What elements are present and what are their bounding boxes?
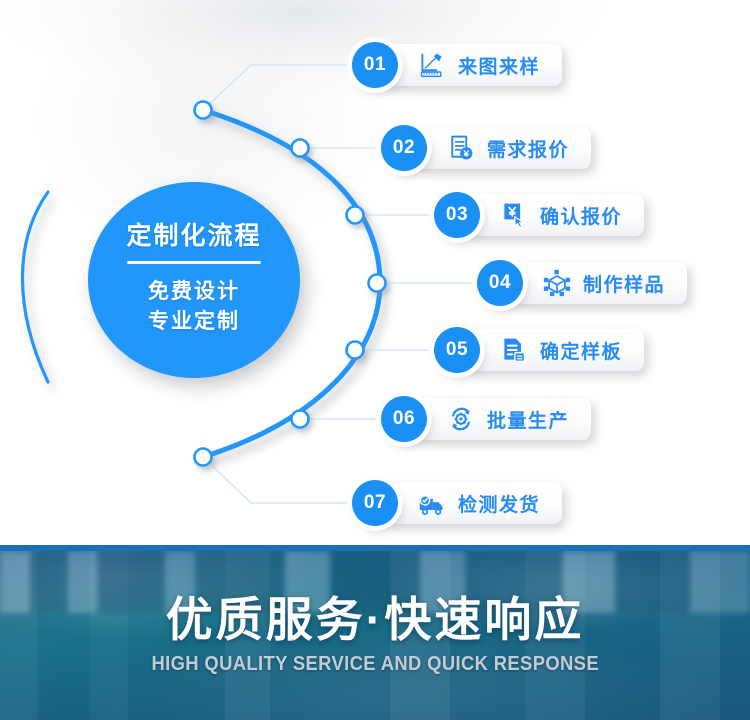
center-subtitle-line-2: 专业定制	[148, 307, 240, 337]
connector-line-07	[203, 457, 374, 503]
center-circle: 定制化流程 免费设计 专业定制	[88, 182, 300, 378]
step-label-05: 确定样板	[540, 337, 622, 364]
center-subtitle-line-1: 免费设计	[148, 277, 240, 307]
arc-node-06	[292, 411, 309, 428]
step-label-02: 需求报价	[487, 135, 569, 162]
yuan-click-confirm-icon	[500, 201, 528, 229]
connector-line-01	[203, 65, 374, 110]
step-badge-05: 05	[434, 327, 480, 373]
arc-node-04	[369, 275, 386, 292]
banner-title: 优质服务·快速响应	[166, 596, 585, 643]
step-badge-02: 02	[381, 125, 427, 171]
center-circle-divider	[127, 261, 261, 264]
drawing-ruler-pencil-icon	[418, 51, 446, 79]
process-step-01[interactable]: 01 来图来样	[352, 42, 562, 88]
step-badge-01: 01	[352, 42, 398, 88]
step-label-07: 检测发货	[458, 490, 540, 517]
center-circle-title: 定制化流程	[126, 224, 261, 249]
outer-decorative-arc	[23, 192, 49, 382]
bottom-banner: 优质服务·快速响应 HIGH QUALITY SERVICE AND QUICK…	[0, 545, 750, 720]
process-step-07[interactable]: 07 检测发货	[352, 480, 562, 526]
document-approve-icon	[500, 336, 528, 364]
banner-content: 优质服务·快速响应 HIGH QUALITY SERVICE AND QUICK…	[0, 551, 750, 720]
step-badge-03: 03	[434, 192, 480, 238]
arc-node-01	[195, 102, 212, 119]
step-label-04: 制作样品	[583, 270, 665, 297]
step-badge-07: 07	[352, 480, 398, 526]
step-badge-06: 06	[381, 396, 427, 442]
truck-check-delivery-icon	[418, 489, 446, 517]
step-label-01: 来图来样	[458, 52, 540, 79]
process-step-02[interactable]: 02 需求报价	[381, 125, 591, 171]
process-step-03[interactable]: 03 确认报价	[434, 192, 644, 238]
step-pill-02[interactable]: 需求报价	[413, 127, 591, 169]
banner-subtitle: HIGH QUALITY SERVICE AND QUICK RESPONSE	[151, 653, 599, 676]
process-step-06[interactable]: 06 批量生产	[381, 396, 591, 442]
step-pill-06[interactable]: 批量生产	[413, 398, 591, 440]
step-pill-03[interactable]: 确认报价	[466, 194, 644, 236]
arc-node-05	[347, 342, 364, 359]
process-diagram: 定制化流程 免费设计 专业定制 01 来图来样	[0, 0, 750, 545]
step-pill-01[interactable]: 来图来样	[384, 44, 562, 86]
step-pill-05[interactable]: 确定样板	[466, 329, 644, 371]
step-pill-04[interactable]: 制作样品	[509, 262, 687, 304]
arc-node-03	[347, 207, 364, 224]
arc-node-07	[195, 449, 212, 466]
step-label-06: 批量生产	[487, 406, 569, 433]
process-step-04[interactable]: 04 制作样品	[477, 260, 687, 306]
gear-recycle-production-icon	[447, 405, 475, 433]
document-yuan-quote-icon	[447, 134, 475, 162]
process-step-05[interactable]: 05 确定样板	[434, 327, 644, 373]
center-circle-subtitle: 免费设计 专业定制	[148, 277, 240, 337]
step-label-03: 确认报价	[540, 202, 622, 229]
cube-prototype-icon	[543, 269, 571, 297]
arc-node-02	[292, 140, 309, 157]
step-badge-04: 04	[477, 260, 523, 306]
custom-process-infographic: 定制化流程 免费设计 专业定制 01 来图来样	[0, 0, 750, 720]
step-pill-07[interactable]: 检测发货	[384, 482, 562, 524]
